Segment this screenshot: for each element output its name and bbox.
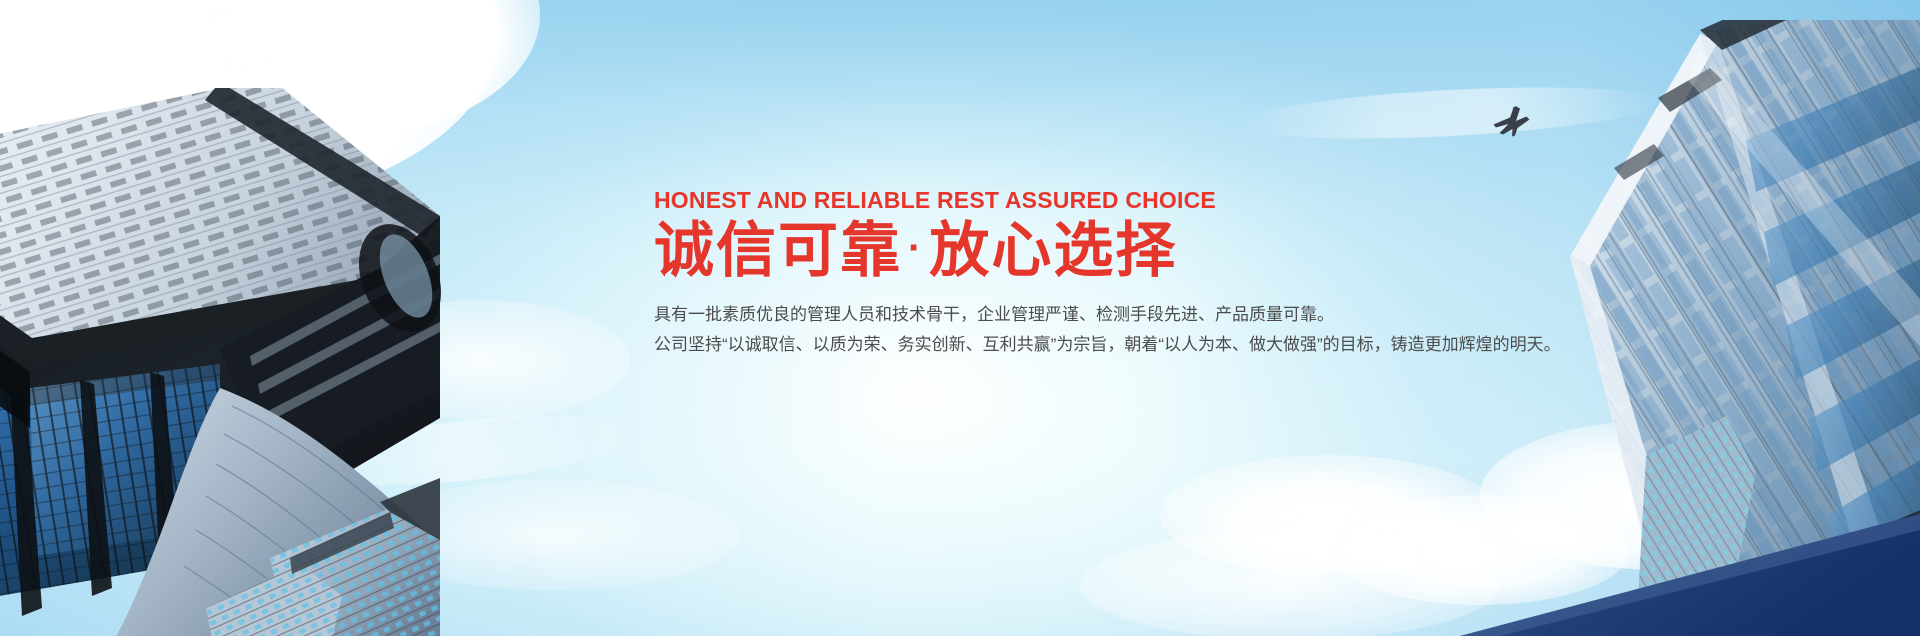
left-building-image xyxy=(0,88,490,636)
banner-description: 具有一批素质优良的管理人员和技术骨干，企业管理严谨、检测手段先进、产品质量可靠。… xyxy=(654,300,1494,360)
headline-part-2: 放心选择 xyxy=(929,217,1177,284)
description-line-2: 公司坚持“以诚取信、以质为荣、务实创新、互利共赢”为宗旨，朝着“以人为本、做大做… xyxy=(654,330,1494,360)
description-line-1: 具有一批素质优良的管理人员和技术骨干，企业管理严谨、检测手段先进、产品质量可靠。 xyxy=(654,300,1494,330)
headline-part-1: 诚信可靠 xyxy=(654,217,902,284)
banner-copy: HONEST AND RELIABLE REST ASSURED CHOICE … xyxy=(654,188,1494,360)
headline-separator: · xyxy=(902,226,929,270)
right-building-image xyxy=(1550,20,1920,636)
tagline-english: HONEST AND RELIABLE REST ASSURED CHOICE xyxy=(654,188,1494,213)
airplane-icon xyxy=(1486,103,1540,143)
page-title: 诚信可靠·放心选择 xyxy=(654,219,1494,284)
hero-banner: HONEST AND RELIABLE REST ASSURED CHOICE … xyxy=(0,0,1920,636)
